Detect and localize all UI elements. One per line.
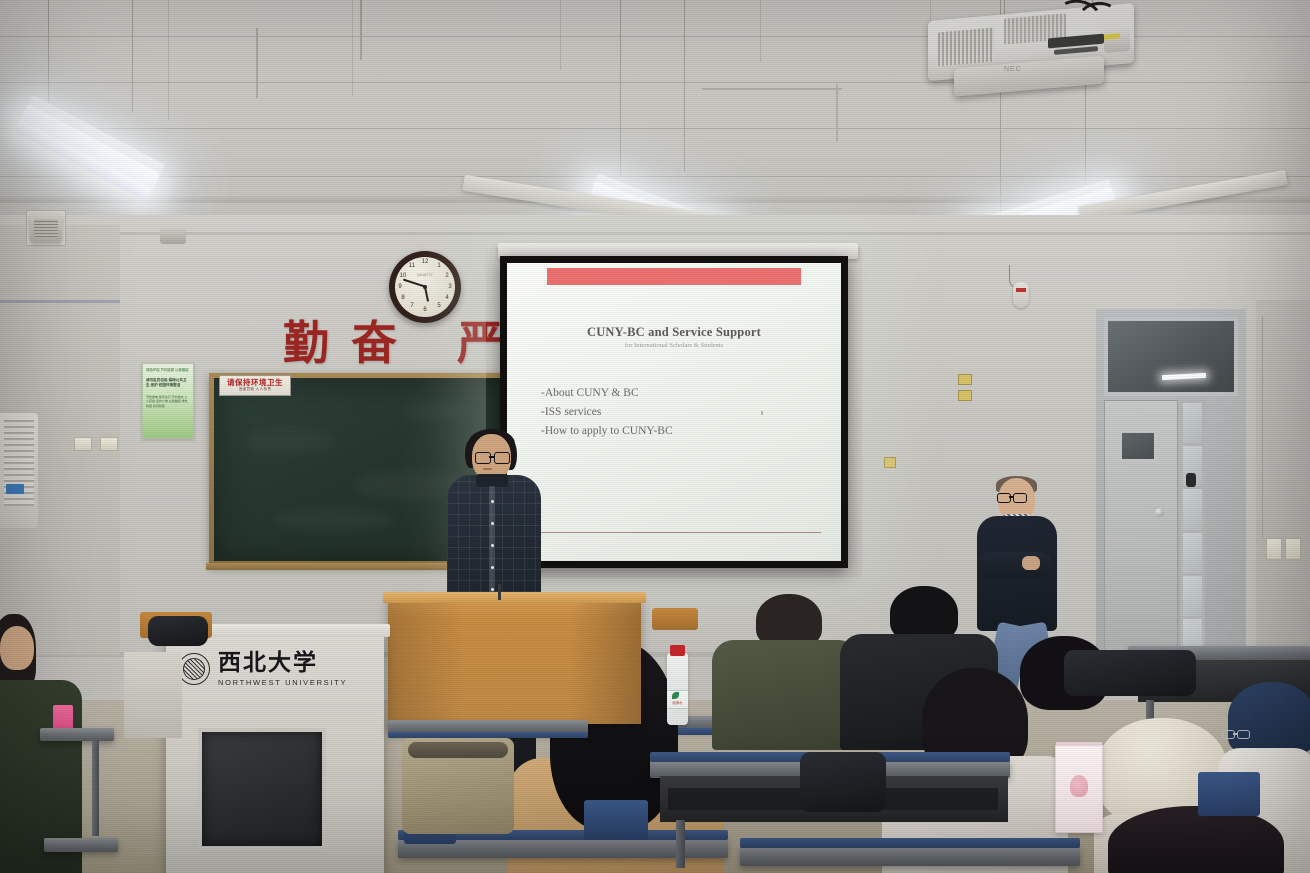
clock-face: 12 1 2 3 4 5 6 7 8 9 10 11 QUARTZ	[395, 257, 455, 317]
presenter-mouth	[483, 468, 492, 470]
projector-brand-label: NEC	[1004, 66, 1022, 73]
wall-conduit	[1262, 316, 1263, 538]
clock-numeral: 1	[434, 263, 444, 269]
microphone-stem	[498, 584, 501, 600]
backpack-strap	[408, 742, 508, 758]
dark-coat	[1064, 650, 1196, 696]
notice-sign-title: 请保持环境卫生	[227, 379, 283, 387]
clock-numeral: 8	[398, 295, 408, 301]
clock-center-pin	[423, 285, 427, 289]
audience-member	[0, 614, 98, 873]
student-desk	[44, 838, 118, 852]
projector-vent	[938, 28, 994, 67]
door-knob[interactable]	[1155, 508, 1164, 517]
water-bottle	[667, 653, 688, 725]
wall-outlet[interactable]	[958, 390, 972, 401]
poster-body: 请勿乱扔垃圾 保持公共卫生 爱护 校园环境整洁	[146, 378, 190, 389]
light-hanger-rod	[48, 0, 49, 104]
university-name-en: NORTHWEST UNIVERSITY	[218, 678, 347, 687]
desk-leg	[92, 740, 99, 836]
shirt-button	[491, 522, 494, 525]
clock-numeral: 3	[445, 284, 455, 290]
wall-right-return	[1256, 300, 1310, 670]
door-handle[interactable]	[1186, 473, 1196, 487]
audience-jacket	[712, 640, 860, 750]
student-desk	[40, 728, 114, 741]
slide-accent-bar	[547, 268, 801, 285]
lectern-shading	[388, 596, 641, 724]
desk-edge	[740, 838, 1080, 848]
university-crest-icon	[178, 653, 210, 685]
desk-leg	[676, 820, 685, 868]
audience-head	[0, 626, 34, 670]
bench-seat	[584, 800, 648, 840]
clock-minute-hand	[403, 279, 425, 288]
side-cabinet	[124, 652, 182, 738]
wall-outlet[interactable]	[1266, 538, 1282, 560]
bench-seat	[1198, 772, 1260, 816]
university-logo: 西北大学 NORTHWEST UNIVERSITY	[178, 648, 378, 690]
audience-beanie	[1228, 682, 1310, 754]
clock-numeral: 11	[407, 263, 417, 269]
wall-outlet[interactable]	[74, 437, 92, 451]
wall-sensor	[160, 228, 186, 244]
wall-seam	[0, 232, 1310, 235]
glasses-icon	[1222, 730, 1250, 739]
speaker-grille	[34, 219, 58, 237]
ceiling-projector: NEC	[928, 4, 1140, 90]
audience-member	[1108, 806, 1288, 873]
bottle-brand-text: 纯净水	[667, 700, 688, 705]
student-desk	[740, 846, 1080, 866]
lectern-top	[383, 592, 646, 603]
slide-divider-rule	[539, 532, 821, 533]
fire-alarm-led	[1016, 288, 1026, 292]
wall-outlet[interactable]	[958, 374, 972, 385]
light-hanger-rod	[684, 0, 685, 172]
wall-clock: 12 1 2 3 4 5 6 7 8 9 10 11 QUARTZ	[389, 251, 461, 323]
shirt-button	[491, 588, 494, 591]
glasses-icon	[475, 452, 511, 464]
slide-title: CUNY-BC and Service Support	[507, 325, 841, 340]
wall-outlet[interactable]	[884, 457, 896, 468]
chair-back	[652, 608, 698, 630]
shirt-button	[491, 500, 494, 503]
university-name-cn: 西北大学	[218, 652, 347, 675]
classroom-scene: NEC 勤奋 严谨 12 1 2 3 4 5 6 7	[0, 0, 1310, 873]
bottle-cap	[670, 645, 685, 656]
light-hanger-rod	[132, 0, 133, 112]
dark-coat	[800, 752, 886, 812]
blackboard-notice-sign: 请保持环境卫生 违者罚款 人人有责	[219, 375, 291, 396]
slide-bullet: -ISS services	[541, 403, 673, 422]
clock-numeral: 6	[420, 307, 430, 313]
wall-trim	[0, 300, 120, 303]
light-hanger-rod	[620, 0, 621, 176]
clock-numeral: 12	[420, 259, 430, 265]
slide-cursor-dot	[761, 411, 763, 415]
console-monitor[interactable]	[198, 728, 326, 850]
fire-alarm	[1013, 282, 1029, 308]
observer-crossed-arms	[978, 552, 1052, 578]
gift-bag-handle	[1056, 742, 1102, 746]
clock-numeral: 9	[395, 284, 405, 290]
door-sidelite	[1180, 400, 1205, 662]
clock-numeral: 4	[442, 295, 452, 301]
notice-sign-subtitle: 违者罚款 人人有责	[239, 388, 271, 392]
slide-subtitle: for International Scholars & Students	[507, 342, 841, 349]
shirt-button	[491, 566, 494, 569]
clock-numeral: 5	[434, 303, 444, 309]
projector-lens	[1104, 27, 1130, 53]
audience-hair	[1108, 806, 1284, 873]
clock-brand: QUARTZ	[395, 273, 455, 277]
clock-hour-hand	[424, 287, 429, 302]
poster-heading: 绿色环保 节约能源 从我做起	[146, 368, 190, 373]
shirt-button	[491, 544, 494, 547]
observer-hand	[1022, 556, 1040, 570]
air-conditioner-badge	[6, 484, 24, 494]
wall-outlet[interactable]	[100, 437, 118, 451]
door-vision-window	[1119, 430, 1157, 462]
glasses-icon	[997, 493, 1027, 503]
wall-outlet[interactable]	[1285, 538, 1301, 560]
green-wall-poster: 绿色环保 节约能源 从我做起 请勿乱扔垃圾 保持公共卫生 爱护 校园环境整洁 节…	[142, 363, 194, 439]
clock-numeral: 7	[407, 303, 417, 309]
slide-bullets: -About CUNY & BC -ISS services -How to a…	[541, 384, 673, 441]
door-transom-window	[1104, 317, 1238, 396]
poster-lines: 节约用电 随手关灯 节约用水 人人有责 爱护公物 从我做起 绿色校园 共同创建	[146, 395, 190, 409]
dark-coat	[148, 616, 208, 646]
slide-bullet: -About CUNY & BC	[541, 384, 673, 403]
gift-bag-graphic	[1070, 775, 1088, 797]
